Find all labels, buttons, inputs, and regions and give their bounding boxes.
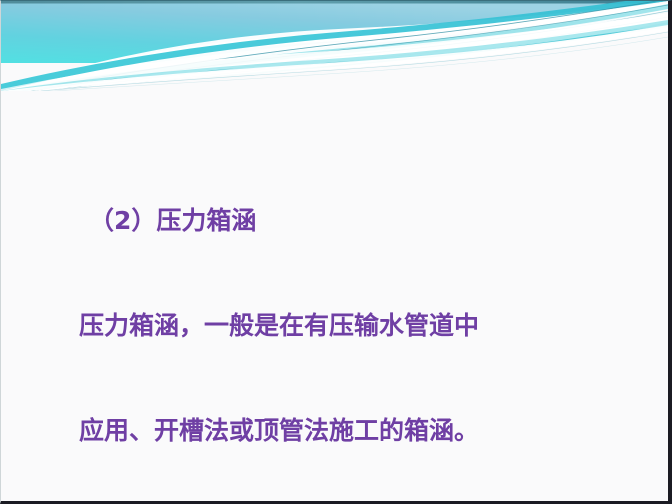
cyan-wave-ribbon-banner-icon: [1, 1, 668, 91]
body-line-0: （2）压力箱涵: [79, 203, 649, 238]
body-line-1: 压力箱涵，一般是在有压输水管道中: [79, 308, 649, 343]
presentation-slide: （2）压力箱涵 压力箱涵，一般是在有压输水管道中 应用、开槽法或顶管法施工的箱涵…: [0, 0, 672, 504]
slide-body-text: （2）压力箱涵 压力箱涵，一般是在有压输水管道中 应用、开槽法或顶管法施工的箱涵…: [79, 133, 649, 504]
body-line-2: 应用、开槽法或顶管法施工的箱涵。: [79, 413, 649, 448]
